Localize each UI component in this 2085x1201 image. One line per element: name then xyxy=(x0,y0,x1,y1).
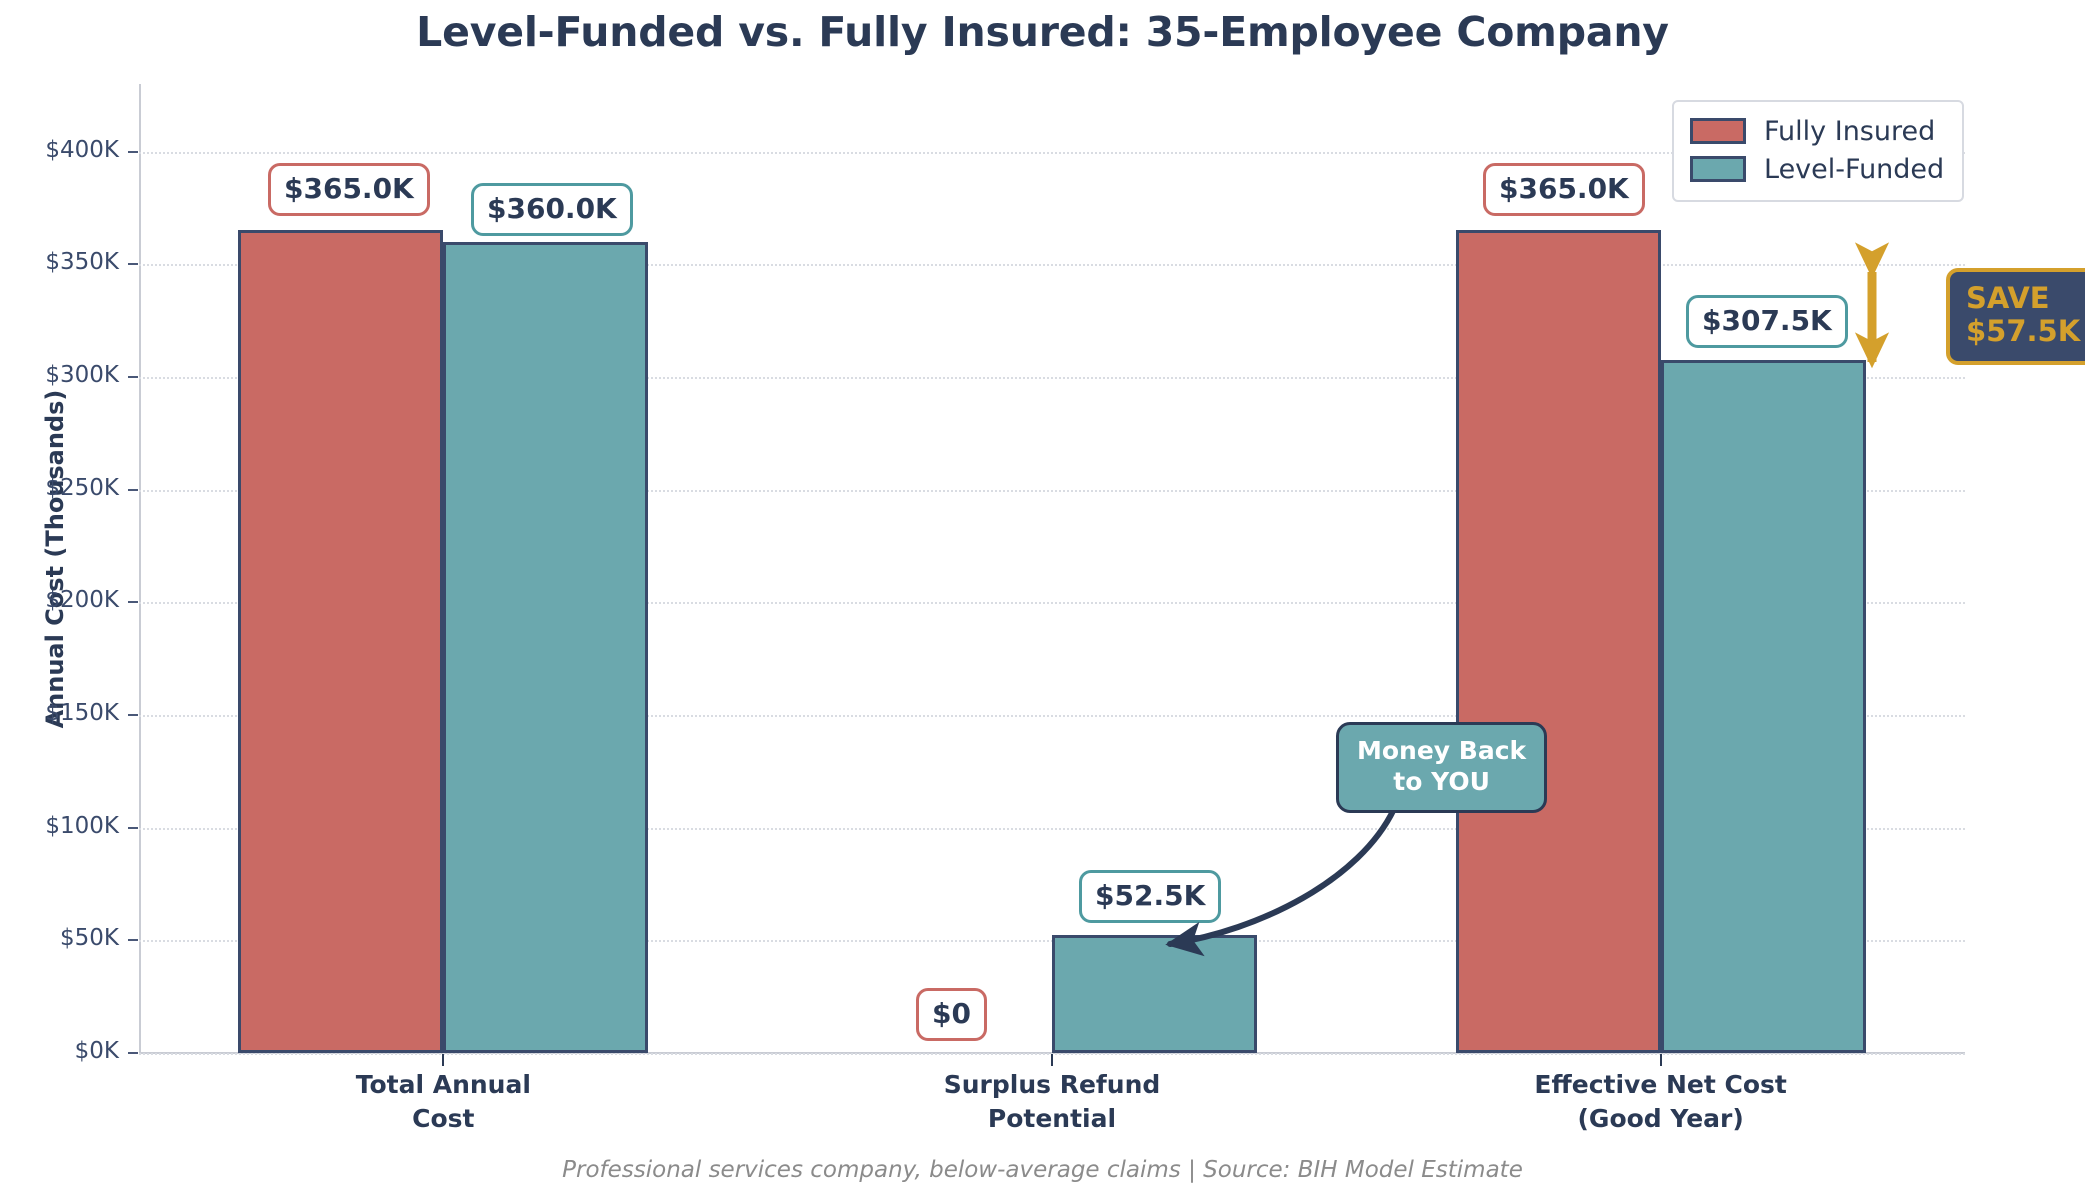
category-label-line: Effective Net Cost xyxy=(1451,1068,1871,1102)
bar-value-label-level-funded: $52.5K xyxy=(1079,870,1221,923)
y-tick-mark xyxy=(128,601,138,603)
legend-label-level-funded: Level-Funded xyxy=(1764,154,1944,185)
chart-caption: Professional services company, below-ave… xyxy=(0,1157,2085,1183)
chart-figure: Level-Funded vs. Fully Insured: 35-Emplo… xyxy=(0,0,2085,1201)
y-tick-mark xyxy=(128,151,138,153)
x-axis-category-label: Total AnnualCost xyxy=(233,1068,653,1136)
y-axis-label: Annual Cost (Thousands) xyxy=(41,259,69,859)
y-tick-label: $350K xyxy=(9,249,119,275)
category-label-line: Total Annual xyxy=(233,1068,653,1102)
y-tick-mark xyxy=(128,263,138,265)
y-tick-label: $50K xyxy=(9,925,119,951)
bar-value-label-level-funded: $307.5K xyxy=(1686,295,1848,348)
y-tick-mark xyxy=(128,376,138,378)
category-label-line: (Good Year) xyxy=(1451,1102,1871,1136)
y-tick-label: $250K xyxy=(9,475,119,501)
bar-level-funded[interactable] xyxy=(1661,360,1866,1053)
y-tick-mark xyxy=(128,1052,138,1054)
y-tick-label: $200K xyxy=(9,587,119,613)
legend-label-fully-insured: Fully Insured xyxy=(1764,116,1935,147)
bar-value-label-fully-insured: $365.0K xyxy=(1483,163,1645,216)
x-axis-category-label: Effective Net Cost(Good Year) xyxy=(1451,1068,1871,1136)
legend-item-level-funded[interactable]: Level-Funded xyxy=(1690,150,1944,188)
savings-badge: SAVE $57.5K xyxy=(1946,268,2085,365)
chart-title: Level-Funded vs. Fully Insured: 35-Emplo… xyxy=(0,8,2085,56)
chart-legend: Fully Insured Level-Funded xyxy=(1672,100,1964,202)
bar-level-funded[interactable] xyxy=(443,242,648,1053)
y-tick-mark xyxy=(128,939,138,941)
savings-badge-line-2: $57.5K xyxy=(1966,315,2080,348)
legend-swatch-icon-level-funded xyxy=(1690,156,1746,182)
bar-fully-insured[interactable] xyxy=(238,230,443,1053)
category-label-line: Potential xyxy=(842,1102,1262,1136)
plot-area: $0K$50K$100K$150K$200K$250K$300K$350K$40… xyxy=(139,84,1965,1053)
bar-value-label-level-funded: $360.0K xyxy=(471,183,633,236)
x-tick-mark xyxy=(1660,1054,1662,1066)
x-axis-category-label: Surplus RefundPotential xyxy=(842,1068,1262,1136)
money-back-line-2: to YOU xyxy=(1357,766,1526,797)
y-tick-mark xyxy=(128,714,138,716)
y-tick-label: $100K xyxy=(9,813,119,839)
y-tick-label: $0K xyxy=(9,1038,119,1064)
category-label-line: Cost xyxy=(233,1102,653,1136)
x-tick-mark xyxy=(442,1054,444,1066)
savings-badge-line-1: SAVE xyxy=(1966,282,2080,315)
money-back-line-1: Money Back xyxy=(1357,735,1526,766)
bar-value-label-fully-insured: $365.0K xyxy=(268,163,430,216)
bar-value-label-fully-insured: $0 xyxy=(916,988,987,1041)
y-tick-label: $150K xyxy=(9,700,119,726)
bar-level-funded[interactable] xyxy=(1052,935,1257,1053)
y-tick-label: $300K xyxy=(9,362,119,388)
category-label-line: Surplus Refund xyxy=(842,1068,1262,1102)
y-tick-mark xyxy=(128,489,138,491)
legend-swatch-icon-fully-insured xyxy=(1690,118,1746,144)
x-tick-mark xyxy=(1051,1054,1053,1066)
legend-item-fully-insured[interactable]: Fully Insured xyxy=(1690,112,1944,150)
bar-fully-insured[interactable] xyxy=(1456,230,1661,1053)
y-tick-label: $400K xyxy=(9,137,119,163)
y-tick-mark xyxy=(128,827,138,829)
money-back-callout: Money Back to YOU xyxy=(1336,722,1547,813)
